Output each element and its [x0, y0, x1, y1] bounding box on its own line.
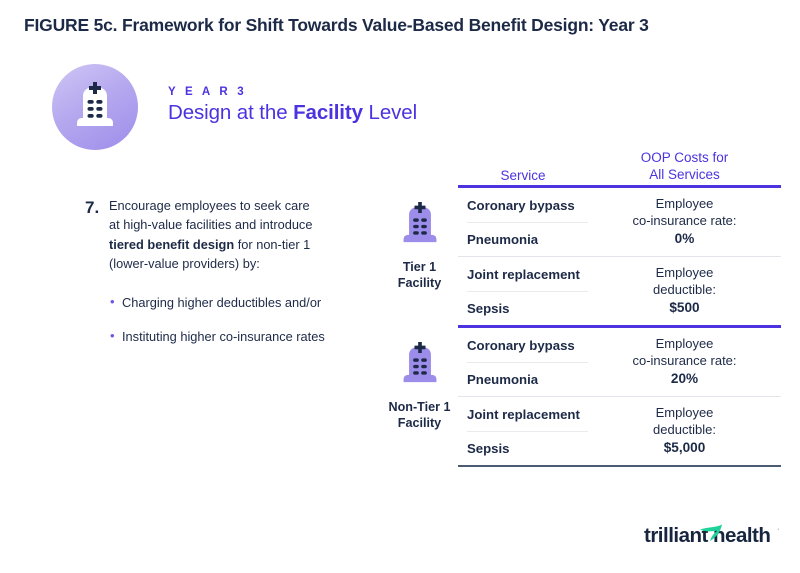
list-item: • Charging higher deductibles and/or: [110, 293, 385, 312]
brand-logo: trilliant health ·: [644, 524, 784, 556]
leaf-swoosh-icon: [698, 523, 724, 549]
service-name: Joint replacement: [467, 257, 588, 291]
year-heading-group: Y E A R 3 Design at the Facility Level: [168, 86, 417, 129]
list-item-label: Charging higher deductibles and/or: [122, 293, 321, 312]
cost-label-line1: Employee: [656, 196, 714, 213]
oop-cost-cell: Employee co-insurance rate: 0%: [588, 188, 781, 256]
service-name: Coronary bypass: [467, 328, 588, 362]
trademark-mark: ·: [777, 526, 779, 533]
table-row: Joint replacement Sepsis Employee deduct…: [458, 396, 781, 465]
recommendation-text: Encourage employees to seek care at high…: [109, 196, 321, 274]
hospital-building-icon: [399, 199, 441, 252]
cost-label-line2: deductible:: [653, 282, 716, 299]
cost-value: $5,000: [664, 439, 706, 457]
facility-label-line2: Facility: [398, 275, 441, 291]
recommendation-text-part1: Encourage employees to seek care at high…: [109, 198, 312, 232]
table-section-tier-1: Tier 1 Facility Coronary bypass Pneumoni…: [381, 185, 781, 325]
service-group: Coronary bypass Pneumonia: [458, 328, 588, 396]
column-header-oop-line1: OOP Costs for: [588, 150, 781, 166]
hospital-building-icon: [399, 339, 441, 392]
cost-label-line1: Employee: [656, 405, 714, 422]
bullet-dot-icon: •: [110, 293, 122, 312]
section-rows: Coronary bypass Pneumonia Employee co-in…: [458, 325, 781, 467]
headline-suffix: Level: [363, 101, 417, 124]
service-name: Sepsis: [467, 291, 588, 325]
cost-label-line2: co-insurance rate:: [632, 353, 736, 370]
facility-label: Tier 1 Facility: [398, 259, 441, 292]
recommendation-block: 7. Encourage employees to seek care at h…: [85, 196, 385, 361]
list-item-label: Instituting higher co-insurance rates: [122, 327, 325, 346]
oop-cost-cell: Employee deductible: $500: [588, 257, 781, 325]
service-group: Coronary bypass Pneumonia: [458, 188, 588, 256]
service-name: Sepsis: [467, 431, 588, 465]
table-header-row: Service OOP Costs for All Services: [381, 147, 781, 185]
facility-cell: Non-Tier 1 Facility: [381, 325, 458, 432]
facility-label-line1: Non-Tier 1: [388, 399, 450, 415]
service-group: Joint replacement Sepsis: [458, 397, 588, 465]
table-row: Joint replacement Sepsis Employee deduct…: [458, 256, 781, 325]
column-header-oop-line2: All Services: [588, 167, 781, 183]
figure-page: FIGURE 5c. Framework for Shift Towards V…: [0, 0, 800, 573]
year-headline: Design at the Facility Level: [168, 101, 417, 125]
cost-value: 0%: [675, 230, 695, 248]
facility-cell: Tier 1 Facility: [381, 185, 458, 292]
facility-label-line2: Facility: [388, 415, 450, 431]
recommendation-item: 7. Encourage employees to seek care at h…: [85, 196, 385, 274]
headline-prefix: Design at the: [168, 101, 293, 124]
oop-cost-cell: Employee co-insurance rate: 20%: [588, 328, 781, 396]
headline-bold: Facility: [293, 101, 363, 124]
table-row: Coronary bypass Pneumonia Employee co-in…: [458, 188, 781, 256]
recommendation-text-bold: tiered benefit design: [109, 237, 234, 252]
service-name: Pneumonia: [467, 222, 588, 256]
table-row: Coronary bypass Pneumonia Employee co-in…: [458, 328, 781, 396]
service-name: Coronary bypass: [467, 188, 588, 222]
page-title: FIGURE 5c. Framework for Shift Towards V…: [24, 15, 649, 36]
facility-label: Non-Tier 1 Facility: [388, 399, 450, 432]
service-group: Joint replacement Sepsis: [458, 257, 588, 325]
hospital-building-icon: [72, 79, 118, 136]
cost-label-line1: Employee: [656, 336, 714, 353]
recommendation-sublist: • Charging higher deductibles and/or • I…: [110, 293, 385, 346]
facility-label-line1: Tier 1: [398, 259, 441, 275]
year-badge: [52, 64, 138, 150]
column-header-service: Service: [458, 168, 588, 185]
year-header: Y E A R 3 Design at the Facility Level: [52, 64, 417, 150]
service-name: Joint replacement: [467, 397, 588, 431]
service-name: Pneumonia: [467, 362, 588, 396]
cost-value: 20%: [671, 370, 698, 388]
cost-label-line2: deductible:: [653, 422, 716, 439]
oop-cost-cell: Employee deductible: $5,000: [588, 397, 781, 465]
column-header-oop-costs: OOP Costs for All Services: [588, 150, 781, 185]
year-label: Y E A R 3: [168, 86, 417, 98]
table-section-non-tier-1: Non-Tier 1 Facility Coronary bypass Pneu…: [381, 325, 781, 467]
cost-label-line2: co-insurance rate:: [632, 213, 736, 230]
section-rows: Coronary bypass Pneumonia Employee co-in…: [458, 185, 781, 325]
cost-value: $500: [669, 299, 699, 317]
list-item: • Instituting higher co-insurance rates: [110, 327, 385, 346]
benefit-design-table: Service OOP Costs for All Services: [381, 147, 781, 467]
recommendation-number: 7.: [85, 196, 109, 221]
bullet-dot-icon: •: [110, 327, 122, 346]
cost-label-line1: Employee: [656, 265, 714, 282]
